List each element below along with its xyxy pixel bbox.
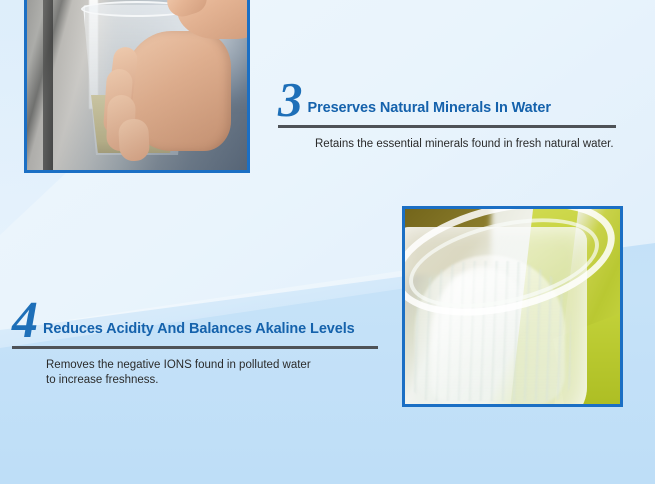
infographic-page: 3 Preserves Natural Minerals In Water Re…	[0, 0, 655, 484]
feature-3-divider	[278, 125, 616, 128]
feature-3-number: 3	[278, 82, 302, 119]
feature-4-number: 4	[12, 303, 37, 340]
feature-3-heading-row: 3 Preserves Natural Minerals In Water	[278, 82, 638, 119]
photo-hands-filling-cup-at-tap	[24, 0, 250, 173]
tap-scene-illustration	[27, 0, 247, 170]
photo-glass-of-water-closeup	[402, 206, 623, 407]
feature-4-heading-row: 4 Reduces Acidity And Balances Akaline L…	[12, 303, 390, 340]
feature-3-description: Retains the essential minerals found in …	[315, 137, 638, 152]
feature-4-title: Reduces Acidity And Balances Akaline Lev…	[43, 321, 355, 340]
photo-tone-overlay	[27, 0, 247, 170]
feature-4-divider	[12, 346, 378, 349]
feature-block-3: 3 Preserves Natural Minerals In Water Re…	[278, 82, 638, 152]
glass-scene-illustration	[405, 209, 620, 404]
feature-4-description: Removes the negative IONS found in pollu…	[46, 358, 390, 388]
feature-3-title: Preserves Natural Minerals In Water	[308, 100, 551, 119]
feature-block-4: 4 Reduces Acidity And Balances Akaline L…	[12, 303, 390, 388]
